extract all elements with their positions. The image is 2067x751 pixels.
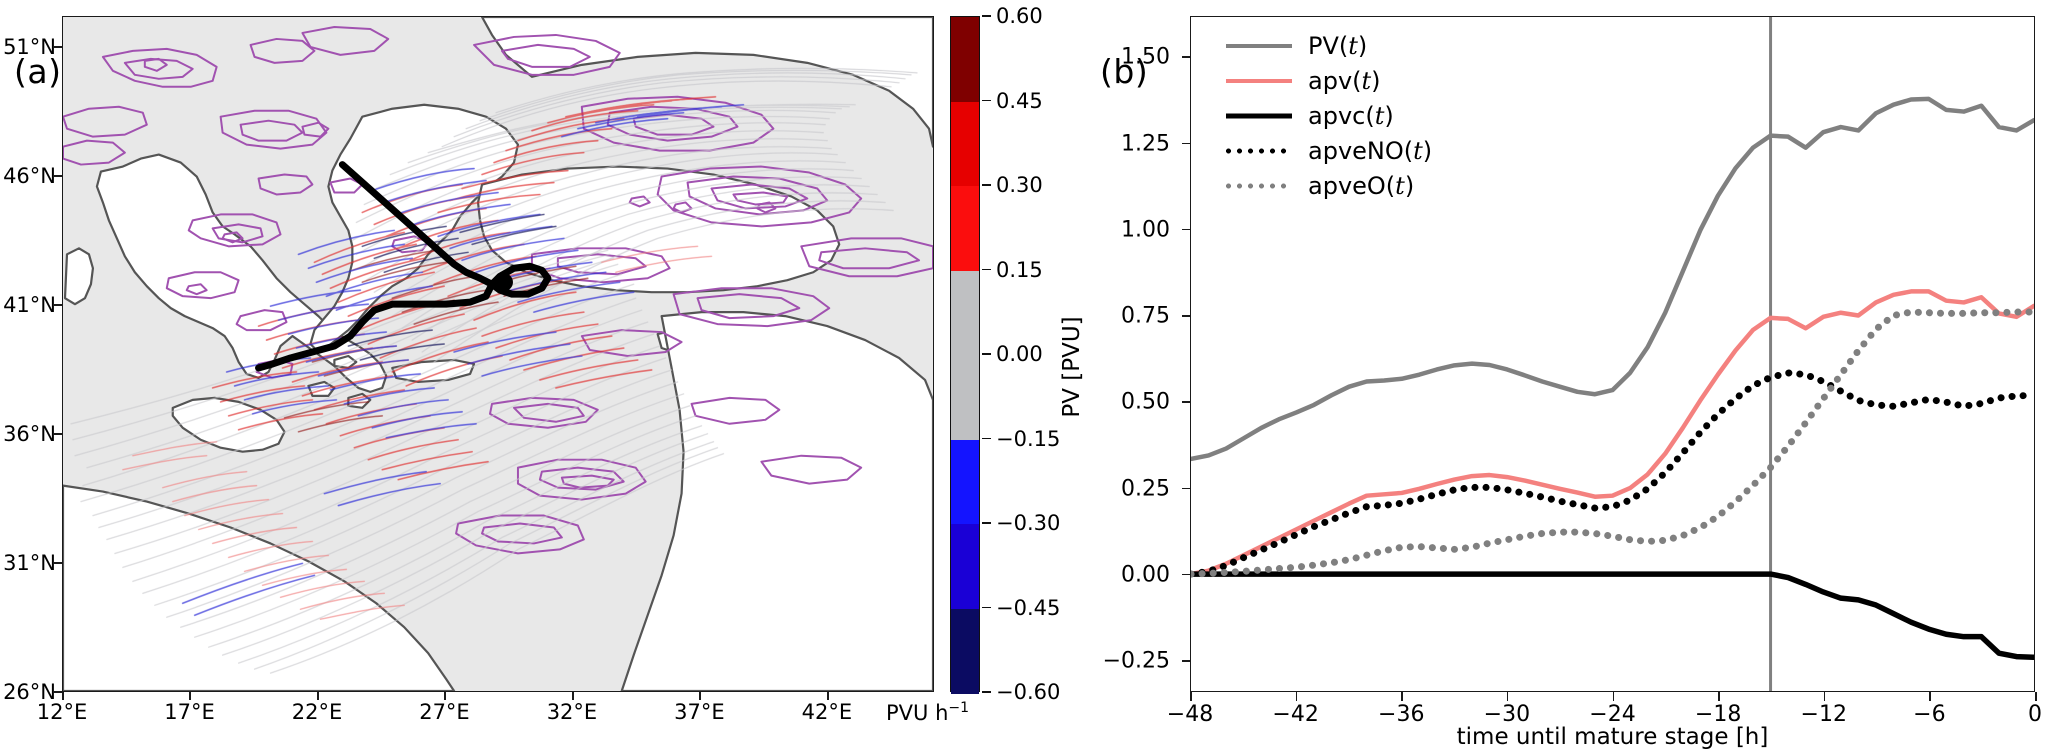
chart-y-tick-mark xyxy=(1182,660,1191,662)
x-axis-label: time until mature stage [h] xyxy=(1190,724,2035,750)
colorbar-segment xyxy=(951,271,979,356)
colorbar-tick-mark xyxy=(982,15,991,17)
chart-x-tick-mark xyxy=(1824,692,1826,701)
legend-item[interactable]: apvc(t) xyxy=(1226,98,1486,133)
map-y-tick-mark xyxy=(54,175,62,177)
colorbar-segment xyxy=(951,524,979,609)
figure-root: (a) xyxy=(0,0,2067,751)
colorbar[interactable] xyxy=(950,16,980,692)
map-x-tick-label: 32°E xyxy=(547,700,598,724)
colorbar-tick-mark xyxy=(982,269,991,271)
map-x-tick-mark xyxy=(699,692,701,700)
map-x-tick-mark xyxy=(189,692,191,700)
chart-y-tick-label: 0.25 xyxy=(1030,476,1170,501)
chart-y-tick-label: 1.50 xyxy=(1030,45,1170,70)
colorbar-tick-mark xyxy=(982,438,991,440)
chart-y-tick-label: 0.75 xyxy=(1030,304,1170,329)
legend-item[interactable]: PV(t) xyxy=(1226,28,1486,63)
map-x-tick-label: 17°E xyxy=(164,700,215,724)
colorbar-tick-mark xyxy=(982,353,991,355)
chart-x-tick-mark xyxy=(1190,692,1192,701)
map-y-tick-mark xyxy=(54,46,62,48)
chart-x-tick-mark xyxy=(1296,692,1298,701)
series-line xyxy=(1191,574,2034,657)
chart-y-tick-mark xyxy=(1182,315,1191,317)
colorbar-tick-mark xyxy=(982,607,991,609)
map-x-tick-label: 27°E xyxy=(419,700,470,724)
colorbar-segment xyxy=(951,102,979,187)
panel-a-map: (a) xyxy=(0,0,1030,751)
legend-item[interactable]: apveNO(t) xyxy=(1226,133,1486,168)
chart-y-tick-label: 0.00 xyxy=(1030,562,1170,587)
chart-y-tick-label: 1.00 xyxy=(1030,217,1170,242)
colorbar-segment xyxy=(951,17,979,102)
chart-y-tick-label: 1.25 xyxy=(1030,131,1170,156)
chart-y-tick-mark xyxy=(1182,143,1191,145)
legend-item[interactable]: apveO(t) xyxy=(1226,168,1486,203)
colorbar-tick-mark xyxy=(982,522,991,524)
legend-label: apvc(t) xyxy=(1308,102,1394,130)
legend-label: apv(t) xyxy=(1308,67,1381,95)
legend-swatch xyxy=(1226,177,1292,195)
legend-swatch xyxy=(1226,107,1292,125)
colorbar-segment xyxy=(951,609,979,694)
legend-swatch xyxy=(1226,72,1292,90)
chart-legend: PV(t)apv(t)apvc(t)apveNO(t)apveO(t) xyxy=(1226,28,1486,203)
map-x-tick-mark xyxy=(572,692,574,700)
chart-y-tick-mark xyxy=(1182,574,1191,576)
map-x-tick-mark xyxy=(317,692,319,700)
chart-y-tick-label: 0.50 xyxy=(1030,390,1170,415)
colorbar-segment xyxy=(951,355,979,440)
map-x-tick-mark xyxy=(62,692,64,700)
series-line xyxy=(1191,291,2034,574)
chart-x-tick-mark xyxy=(1718,692,1720,701)
legend-swatch xyxy=(1226,37,1292,55)
colorbar-segment xyxy=(951,440,979,525)
chart-x-tick-mark xyxy=(1613,692,1615,701)
map-y-tick-mark xyxy=(54,691,62,693)
chart-y-tick-label: −0.25 xyxy=(1030,648,1170,673)
chart-x-tick-mark xyxy=(2035,692,2037,701)
chart-x-tick-mark xyxy=(1929,692,1931,701)
map-x-tick-label: 12°E xyxy=(37,700,88,724)
y-axis-label: PV [PVU] xyxy=(1059,47,1085,687)
map-x-axis: 12°E17°E22°E27°E32°E37°E42°E xyxy=(0,0,1030,751)
colorbar-tick-mark xyxy=(982,691,991,693)
map-x-tick-label: 42°E xyxy=(802,700,853,724)
chart-y-tick-mark xyxy=(1182,229,1191,231)
legend-swatch xyxy=(1226,142,1292,160)
colorbar-segment xyxy=(951,186,979,271)
map-x-tick-label: 22°E xyxy=(292,700,343,724)
legend-label: apveNO(t) xyxy=(1308,137,1432,165)
map-y-tick-mark xyxy=(54,304,62,306)
legend-item[interactable]: apv(t) xyxy=(1226,63,1486,98)
colorbar-tick-mark xyxy=(982,100,991,102)
map-x-tick-mark xyxy=(444,692,446,700)
colorbar-tick-mark xyxy=(982,184,991,186)
series-line xyxy=(1191,312,2034,574)
colorbar-unit-label: PVU h−1 xyxy=(886,700,969,725)
map-x-tick-mark xyxy=(827,692,829,700)
legend-label: apveO(t) xyxy=(1308,172,1414,200)
map-y-tick-mark xyxy=(54,562,62,564)
chart-y-tick-mark xyxy=(1182,56,1191,58)
chart-y-tick-mark xyxy=(1182,401,1191,403)
chart-x-tick-mark xyxy=(1507,692,1509,701)
chart-y-tick-mark xyxy=(1182,488,1191,490)
map-x-tick-label: 37°E xyxy=(674,700,725,724)
panel-b-timeseries: (b) −0.250.000.250.500.751.001.251.50−48… xyxy=(1030,0,2067,751)
map-y-tick-mark xyxy=(54,433,62,435)
chart-x-tick-mark xyxy=(1401,692,1403,701)
legend-label: PV(t) xyxy=(1308,32,1367,60)
